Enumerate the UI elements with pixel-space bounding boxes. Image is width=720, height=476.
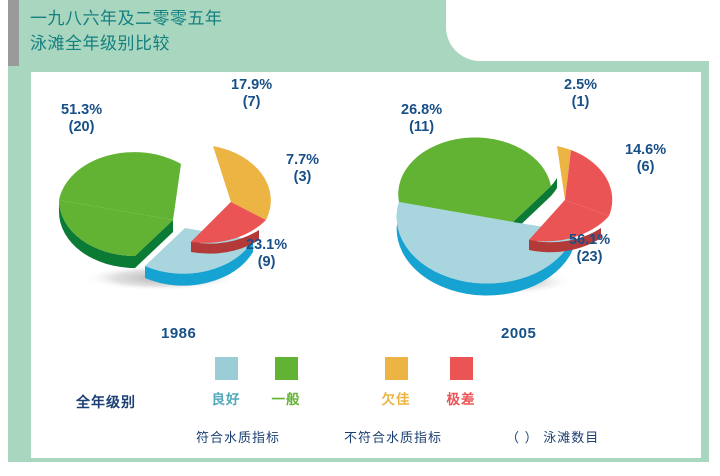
legend-item-very-poor[interactable]: 极差 — [431, 357, 491, 408]
year-label-1986: 1986 — [161, 325, 196, 342]
legend-swatch-fair-icon — [275, 357, 298, 380]
legend-item-poor[interactable]: 欠佳 — [366, 357, 426, 408]
legend-label-fair: 一般 — [256, 388, 316, 408]
callout-very-poor-1986: 7.7% (3) — [286, 152, 319, 186]
pie-chart-2005: 26.8% (11) 2.5% (1) 14.6% (6) 56.1% (23) — [379, 80, 699, 320]
frame-right-cut — [709, 61, 720, 476]
content-panel: 51.3% (20) 17.9% (7) 7.7% (3) 23.1% (9) — [31, 72, 701, 458]
callout-poor-1986: 17.9% (7) — [231, 77, 272, 111]
slice-fair-side — [551, 178, 557, 196]
legend-label-very-poor: 极差 — [431, 388, 491, 408]
page-title: 一九八六年及二零零五年 泳滩全年级别比较 — [30, 6, 440, 56]
callout-fair-2005: 26.8% (11) — [401, 102, 442, 136]
header-accent-bar — [8, 0, 19, 66]
footnote-beach-count: （ ） 泳滩数目 — [506, 427, 599, 446]
callout-good-1986: 23.1% (9) — [246, 237, 287, 271]
page-title-line-1: 一九八六年及二零零五年 — [30, 6, 440, 31]
page-title-line-2: 泳滩全年级别比较 — [30, 31, 440, 56]
callout-poor-2005: 2.5% (1) — [564, 77, 597, 111]
slide-canvas: 一九八六年及二零零五年 泳滩全年级别比较 — [0, 0, 720, 476]
legend-swatch-poor-icon — [385, 357, 408, 380]
callout-fair-1986: 51.3% (20) — [61, 102, 102, 136]
year-label-2005: 2005 — [501, 325, 536, 342]
legend-item-good[interactable]: 良好 — [196, 357, 256, 408]
callout-very-poor-2005: 14.6% (6) — [625, 142, 666, 176]
footnote-compliant: 符合水质指标 — [196, 427, 280, 446]
pie-chart-1986: 51.3% (20) 17.9% (7) 7.7% (3) 23.1% (9) — [33, 80, 353, 320]
charts-row: 51.3% (20) 17.9% (7) 7.7% (3) 23.1% (9) — [31, 72, 701, 322]
legend-swatch-good-icon — [215, 357, 238, 380]
legend: 全年级别 良好 一般 欠佳 极差 符合水质指标 不符合水质指标 （ ） 泳滩数目 — [31, 357, 701, 457]
legend-label-good: 良好 — [196, 388, 256, 408]
frame-bottom-cut — [0, 462, 720, 476]
footnote-non-compliant: 不符合水质指标 — [344, 427, 442, 446]
legend-label-poor: 欠佳 — [366, 388, 426, 408]
legend-swatch-very-poor-icon — [450, 357, 473, 380]
header-notch — [446, 0, 720, 61]
legend-item-fair[interactable]: 一般 — [256, 357, 316, 408]
callout-good-2005: 56.1% (23) — [569, 232, 610, 266]
legend-row-title: 全年级别 — [76, 392, 136, 412]
